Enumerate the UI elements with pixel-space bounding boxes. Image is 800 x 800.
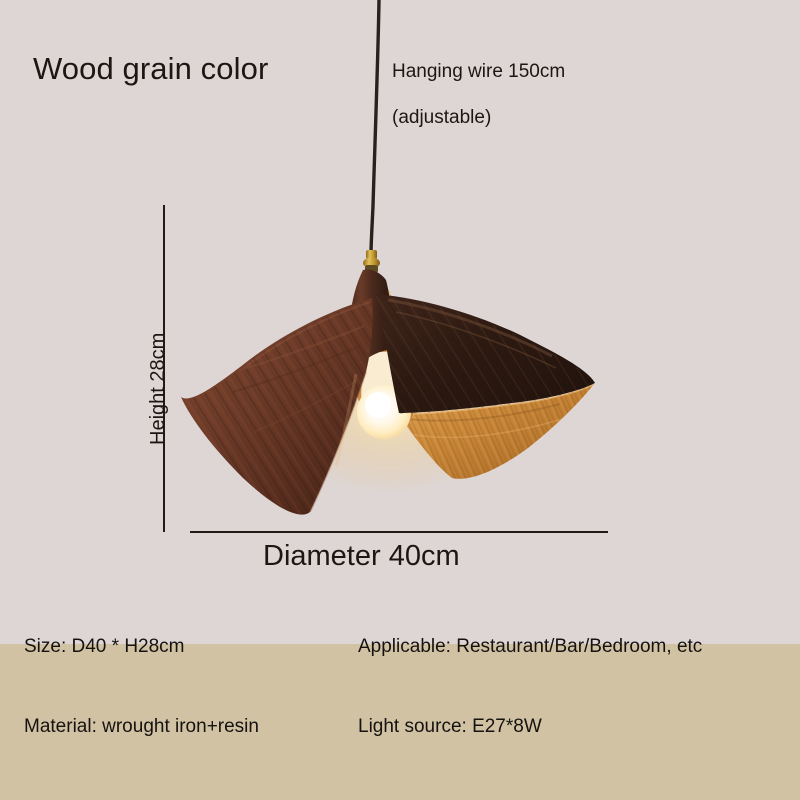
product-image-canvas: Wood grain color Hanging wire 150cm (adj… [0,0,800,800]
spec-size: Size: D40 * H28cm [24,636,185,658]
hanging-wire-length-label: Hanging wire 150cm [392,60,565,84]
hanging-wire-adjustable-label: (adjustable) [392,106,491,130]
diameter-dimension-label: Diameter 40cm [263,538,460,574]
spec-material: Material: wrought iron+resin [24,716,259,738]
page-title-wood-grain-color: Wood grain color [33,50,268,89]
spec-applicable: Applicable: Restaurant/Bar/Bedroom, etc [358,636,702,658]
diameter-dimension-line [190,531,608,533]
spec-light-source: Light source: E27*8W [358,716,542,738]
height-dimension-label: Height 28cm [146,333,171,445]
